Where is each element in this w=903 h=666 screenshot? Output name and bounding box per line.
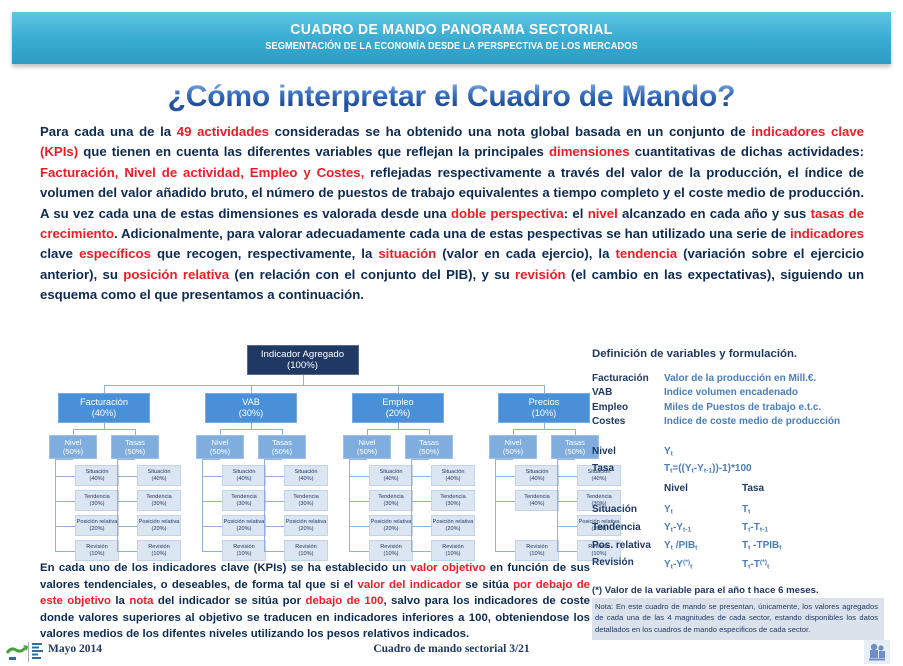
node-weight: (20%) [90,526,105,533]
node-label: VAB [242,397,260,408]
node-leaf-1-2-2: Tendencia(30%) [137,490,181,511]
node-weight: (40%) [152,476,167,483]
formula-nivel: Yt-Yt-1 [664,520,742,538]
formula-tasa: Tt-T(*)t [742,555,769,575]
node-label: Revisión [295,544,316,551]
connector-line [411,476,431,477]
connector-line [117,551,137,552]
connector-line [411,501,431,502]
highlighted-term: 49 actividades [177,124,269,139]
header-banner: CUADRO DE MANDO PANORAMA SECTORIAL SEGME… [12,12,891,64]
connector-line [349,476,369,477]
connector-line [513,429,575,430]
definition-value: Indice volumen encadenado [664,386,798,400]
connector-line [303,375,304,385]
node-leaf-4-1-2: Tendencia(40%) [515,490,559,511]
highlighted-term: nivel [588,206,618,221]
connector-line [202,551,222,552]
node-leaf-2-1-1: Situación(40%) [222,465,266,486]
node-weight: (50%) [272,447,292,456]
institution-emblem-icon [862,638,892,666]
node-label: Revisión [233,544,254,551]
connector-line [411,459,429,460]
node-weight: (20%) [446,526,461,533]
node-nivel-3: Nivel(50%) [343,435,391,459]
page-footer: Mayo 2014 Cuadro de mando sectorial 3/21 [0,638,903,666]
node-leaf-2-1-2: Tendencia(30%) [222,490,266,511]
connector-line [495,459,513,460]
connector-line [117,476,137,477]
node-weight: (30%) [152,501,167,508]
connector-line [544,385,545,393]
formula-key: Nivel [592,444,664,462]
connector-line [264,551,284,552]
node-nivel-2: Nivel(50%) [196,435,244,459]
node-weight: (10%) [152,551,167,558]
connector-line [411,526,431,527]
node-leaf-1-1-2: Tendencia(30%) [75,490,119,511]
node-leaf-1-1-1: Situación(40%) [75,465,119,486]
formula-col-nivel: Nivel [664,481,742,496]
formula-table-row: Pos. relativaYt /PIBtTt -TPIBt [592,538,892,556]
node-label: Situación [525,469,548,476]
node-label: Revisión [526,544,547,551]
node-label: Posición relativa [224,519,265,526]
node-weight: (40%) [299,476,314,483]
formula-table-row: TendenciaYt-Yt-1Tt-Tt-1 [592,520,892,538]
node-label: Tendencia [440,494,466,501]
node-indicador-agregado: Indicador Agregado(100%) [247,345,359,375]
node-dimension-3: Empleo(20%) [352,393,444,423]
node-label: Posición relativa [139,519,180,526]
node-weight: (100%) [287,360,318,372]
connector-line [104,385,544,386]
node-label: Situación [85,469,108,476]
node-label: Tasas [419,438,439,447]
definition-row: EmpleoMiles de Puestos de trabajo e.t.c. [592,401,892,415]
node-leaf-1-1-4: Revisión(10%) [75,540,119,561]
connector-line [264,476,284,477]
node-weight: (30%) [446,501,461,508]
node-weight: (20%) [152,526,167,533]
node-leaf-4-1-1: Situación(40%) [515,465,559,486]
definition-row: FacturaciónValor de la producción en Mil… [592,372,892,386]
closing-paragraph: En cada uno de los indicadores clave (KP… [40,560,590,643]
definition-key: Empleo [592,401,664,415]
node-nivel-4: Nivel(50%) [489,435,537,459]
highlighted-term: doble perspectiva [451,206,564,221]
connector-line [73,429,135,430]
node-weight: (50%) [210,447,230,456]
definition-key: Facturación [592,372,664,386]
node-leaf-3-2-4: Revisión(10%) [431,540,475,561]
connector-line [367,429,429,430]
formula-key: Tendencia [592,520,664,538]
connector-line [55,551,75,552]
node-weight: (40%) [530,476,545,483]
node-dimension-4: Precios(10%) [498,393,590,423]
connector-line [495,501,515,502]
connector-line [202,459,220,460]
node-label: Situación [147,469,170,476]
node-weight: (30%) [239,408,264,419]
node-leaf-3-2-2: Tendencia(30%) [431,490,475,511]
connector-line [117,459,118,551]
node-weight: (50%) [125,447,145,456]
connector-line [557,476,577,477]
formula-key: Pos. relativa [592,538,664,556]
node-label: Facturación [80,397,128,408]
node-weight: (50%) [357,447,377,456]
node-weight: (20%) [386,408,411,419]
definition-row: VABIndice volumen encadenado [592,386,892,400]
connector-line [264,459,282,460]
node-label: Tasas [272,438,292,447]
connector-line [349,526,369,527]
node-weight: (10%) [384,551,399,558]
node-weight: (50%) [503,447,523,456]
highlighted-term: indicadores [790,226,864,241]
formula-nivel: Yt-Y(*)t [664,555,742,575]
intro-paragraph: Para cada una de la 49 actividades consi… [40,122,864,306]
node-tasas-2: Tasas(50%) [258,435,306,459]
connector-line [117,526,137,527]
node-label: Posición relativa [371,519,412,526]
definition-key: VAB [592,386,664,400]
definition-value: Miles de Puestos de trabajo e.t.c. [664,401,821,415]
page-title: ¿Cómo interpretar el Cuadro de Mando? [0,80,903,114]
node-label: Precios [529,397,560,408]
definition-key: Costes [592,415,664,429]
definitions-title: Definición de variables y formulación. [592,348,892,360]
formula-row: NivelYt [592,444,892,462]
connector-line [349,501,369,502]
node-weight: (20%) [299,526,314,533]
node-weight: (10%) [237,551,252,558]
banner-subtitle: SEGMENTACIÓN DE LA ECONOMÍA DESDE LA PER… [65,40,839,53]
node-weight: (40%) [237,476,252,483]
formula-table-row: RevisiónYt-Y(*)tTt-T(*)t [592,555,892,575]
node-weight: (40%) [446,476,461,483]
connector-line [55,476,75,477]
connector-line [398,385,399,393]
connector-line [264,459,265,551]
highlighted-term: posición relativa [123,267,229,282]
node-label: Tendencia [146,494,172,501]
node-leaf-2-2-2: Tendencia(30%) [284,490,328,511]
node-label: Revisión [148,544,169,551]
node-weight: (50%) [565,447,585,456]
highlighted-term: tendencia [616,246,678,261]
node-weight: (40%) [530,501,545,508]
node-tasas-3: Tasas(50%) [405,435,453,459]
node-weight: (40%) [92,408,117,419]
connector-line [117,501,137,502]
highlighted-term: indicadores clave (KPIs) [40,124,864,159]
node-leaf-3-1-2: Tendencia(30%) [369,490,413,511]
node-weight: (30%) [237,501,252,508]
formula-expression: Yt [664,444,673,462]
connector-line [557,459,575,460]
connector-line [495,459,496,551]
connector-line [411,459,412,551]
connector-line [349,459,350,551]
node-leaf-2-1-3: Posición relativa(20%) [222,515,266,536]
node-tasas-1: Tasas(50%) [111,435,159,459]
node-weight: (20%) [384,526,399,533]
connector-line [202,476,222,477]
connector-line [104,385,105,393]
banner-title: CUADRO DE MANDO PANORAMA SECTORIAL [43,12,860,39]
node-weight: (50%) [419,447,439,456]
node-label: Situación [232,469,255,476]
node-leaf-2-1-4: Revisión(10%) [222,540,266,561]
connector-line [202,526,222,527]
node-weight: (10%) [532,408,557,419]
connector-line [495,551,515,552]
kpi-hierarchy-diagram: Indicador Agregado(100%)Facturación(40%)… [30,345,575,555]
formula-row: TasaTt=((Yt-Yt-1))-1)*100 [592,461,892,479]
node-leaf-3-2-1: Situación(40%) [431,465,475,486]
node-label: Situación [294,469,317,476]
formula-col-tasa: Tasa [742,481,764,496]
node-weight: (30%) [299,501,314,508]
highlighted-term: Facturación, Nivel de actividad, Empleo … [40,165,364,180]
connector-line [557,501,577,502]
connector-line [264,501,284,502]
highlighted-term: valor objetivo [410,562,485,574]
node-leaf-1-2-4: Revisión(10%) [137,540,181,561]
node-label: Tasas [565,438,585,447]
node-leaf-3-2-3: Posición relativa(20%) [431,515,475,536]
highlighted-term: situación [378,246,436,261]
node-label: Tendencia [293,494,319,501]
formula-key: Revisión [592,555,664,575]
formula-key: Tasa [592,461,664,479]
definition-value: Valor de la producción en Mill.€. [664,372,816,386]
formula-table-header: NivelTasa [592,481,892,496]
node-label: Nivel [65,438,82,447]
connector-line [55,501,75,502]
connector-line [557,526,577,527]
node-label: Situación [441,469,464,476]
node-leaf-2-2-3: Posición relativa(20%) [284,515,328,536]
highlighted-term: revisión [515,267,566,282]
node-weight: (30%) [384,501,399,508]
highlighted-term: dimensiones [549,144,630,159]
node-weight: (10%) [530,551,545,558]
formula-nivel: Yt /PIBt [664,538,742,556]
node-weight: (40%) [384,476,399,483]
node-leaf-3-1-1: Situación(40%) [369,465,413,486]
node-label: Nivel [505,438,522,447]
connector-line [349,551,369,552]
node-label: Tendencia [84,494,110,501]
connector-line [220,429,282,430]
node-weight: (10%) [299,551,314,558]
node-nivel-1: Nivel(50%) [49,435,97,459]
node-leaf-2-2-4: Revisión(10%) [284,540,328,561]
node-leaf-1-1-3: Posición relativa(20%) [75,515,119,536]
connector-line [557,551,577,552]
formula-key: Situación [592,502,664,520]
node-label: Tendencia [378,494,404,501]
node-label: Revisión [380,544,401,551]
node-label: Indicador Agregado [261,349,344,361]
node-label: Situación [379,469,402,476]
connector-line [349,459,367,460]
formula-tasa: Tt-Tt-1 [742,520,768,538]
node-label: Posición relativa [433,519,474,526]
node-leaf-1-2-1: Situación(40%) [137,465,181,486]
node-label: Tasas [125,438,145,447]
node-label: Revisión [86,544,107,551]
connector-line [55,459,73,460]
highlighted-term: específicos [79,246,151,261]
node-dimension-2: VAB(30%) [205,393,297,423]
connector-line [117,459,135,460]
definition-value: Indice de coste medio de producción [664,415,840,429]
node-label: Nivel [212,438,229,447]
formulas-block: NivelYtTasaTt=((Yt-Yt-1))-1)*100NivelTas… [592,444,892,575]
connector-line [55,459,56,551]
node-leaf-3-1-4: Revisión(10%) [369,540,413,561]
definition-row: CostesIndice de coste medio de producció… [592,415,892,429]
formula-tasa: Tt -TPIBt [742,538,782,556]
connector-line [251,385,252,393]
node-label: Empleo [382,397,413,408]
footer-center-label: Cuadro de mando sectorial 3/21 [0,643,903,655]
node-weight: (10%) [446,551,461,558]
node-label: Posición relativa [286,519,327,526]
node-label: Tendencia [524,494,550,501]
variable-definitions-list: FacturaciónValor de la producción en Mil… [592,372,892,430]
footnote-star: (*) Valor de la variable para el año t h… [592,585,892,596]
connector-line [557,459,558,551]
node-label: Revisión [442,544,463,551]
formula-tasa: Tt [742,502,750,520]
node-weight: (50%) [63,447,83,456]
highlighted-term: valor del indicador [358,579,462,591]
connector-line [495,476,515,477]
formula-table-row: SituaciónYtTt [592,502,892,520]
highlighted-term: nota [129,595,153,607]
connector-line [202,501,222,502]
definitions-panel: Definición de variables y formulación. F… [592,348,892,640]
node-leaf-4-1-3: Revisión(10%) [515,540,559,561]
connector-line [202,459,203,551]
node-weight: (30%) [90,501,105,508]
node-weight: (20%) [237,526,252,533]
node-weight: (10%) [90,551,105,558]
connector-line [55,526,75,527]
formula-nivel: Yt [664,502,742,520]
node-leaf-2-2-1: Situación(40%) [284,465,328,486]
highlighted-term: debajo de 100 [306,595,384,607]
node-dimension-1: Facturación(40%) [58,393,150,423]
note-box: Nota: En este cuadro de mando se present… [592,598,884,640]
node-leaf-1-2-3: Posición relativa(20%) [137,515,181,536]
node-leaf-3-1-3: Posición relativa(20%) [369,515,413,536]
node-label: Nivel [359,438,376,447]
node-label: Tendencia [231,494,257,501]
connector-line [264,526,284,527]
formula-expression: Tt=((Yt-Yt-1))-1)*100 [664,461,752,479]
node-label: Posición relativa [77,519,118,526]
node-weight: (40%) [90,476,105,483]
connector-line [411,551,431,552]
